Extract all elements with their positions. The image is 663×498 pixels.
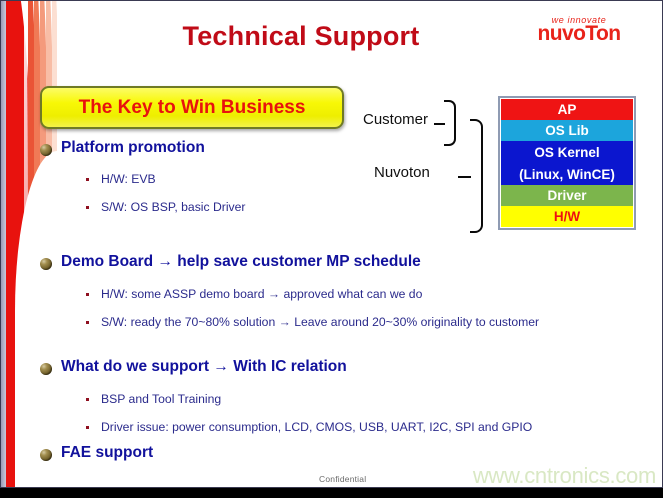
software-stack-diagram: AP OS Lib OS Kernel (Linux, WinCE) Drive… [498, 96, 636, 230]
stripe-orange-2 [34, 1, 42, 488]
sub-bullet-label: S/W: ready the 70~80% solution → Leave a… [101, 314, 539, 331]
site-watermark: www.cntronics.com [473, 463, 656, 488]
bullet-platform-promotion: Platform promotion [40, 139, 205, 157]
stripe-orange-4 [46, 1, 54, 488]
brace-customer-icon [444, 100, 456, 146]
sub-bullet-assp-demo: H/W: some ASSP demo board → approved wha… [86, 286, 422, 303]
slide-canvas: Technical Support we innovate nuvoTon Th… [0, 0, 663, 488]
square-dot-icon [86, 178, 89, 181]
sub-bullet-hw-evb: H/W: EVB [86, 171, 156, 188]
stack-layer-hw: H/W [501, 206, 633, 227]
sub-bullet-label: H/W: some ASSP demo board → approved wha… [101, 286, 422, 303]
sub-bullet-sw-solution: S/W: ready the 70~80% solution → Leave a… [86, 314, 581, 331]
bullet-label: FAE support [61, 444, 153, 462]
arrow-icon: → [279, 315, 291, 329]
bullet-label: Demo Board → help save customer MP sched… [61, 253, 421, 271]
bullet-demo-board: Demo Board → help save customer MP sched… [40, 253, 421, 271]
decorative-left-stripes [1, 1, 57, 488]
arrow-icon: → [268, 287, 280, 301]
key-message-label: The Key to Win Business [79, 97, 306, 119]
stack-layer-ap: AP [501, 99, 633, 120]
logo-wordmark: nuvoTon [520, 23, 638, 45]
sub-bullet-bsp-tool-training: BSP and Tool Training [86, 391, 221, 408]
brace-nuvoton-icon [470, 119, 483, 233]
brace-nub [458, 176, 471, 178]
bullet-fae-support: FAE support [40, 444, 153, 462]
arrow-icon: → [213, 358, 229, 375]
stripe-edge [1, 1, 6, 488]
sub-bullet-driver-issue: Driver issue: power consumption, LCD, CM… [86, 419, 532, 436]
sub-bullet-sw-bsp: S/W: OS BSP, basic Driver [86, 199, 246, 216]
stripe-orange-3 [40, 1, 48, 488]
square-dot-icon [86, 321, 89, 324]
sphere-bullet-icon [40, 363, 52, 375]
sub-bullet-label: S/W: OS BSP, basic Driver [101, 199, 246, 216]
brace-label-customer: Customer [363, 111, 428, 128]
stripe-red [6, 1, 32, 488]
sub-bullet-label: BSP and Tool Training [101, 391, 221, 408]
stack-layer-driver: Driver [501, 185, 633, 206]
stripe-curve-mask [15, 151, 57, 488]
brace-label-nuvoton: Nuvoton [374, 164, 430, 181]
stripe-orange-5 [52, 1, 57, 488]
square-dot-icon [86, 398, 89, 401]
sub-bullet-label: Driver issue: power consumption, LCD, CM… [101, 419, 532, 436]
stripe-highlight [24, 1, 28, 488]
bullet-label: What do we support → With IC relation [61, 358, 347, 376]
sub-bullet-label: H/W: EVB [101, 171, 156, 188]
stripe-orange-1 [28, 1, 37, 488]
bullet-label: Platform promotion [61, 139, 205, 157]
stack-layer-os-kernel-variants: (Linux, WinCE) [501, 163, 633, 185]
confidential-notice: Confidential [319, 474, 366, 484]
bullet-what-do-we-support: What do we support → With IC relation [40, 358, 347, 376]
square-dot-icon [86, 293, 89, 296]
nuvoton-logo: we innovate nuvoTon [520, 15, 638, 45]
square-dot-icon [86, 426, 89, 429]
brace-nub [434, 123, 445, 125]
stack-layer-os-kernel: OS Kernel [501, 141, 633, 163]
arrow-icon: → [157, 253, 173, 270]
square-dot-icon [86, 206, 89, 209]
stack-layer-os-lib: OS Lib [501, 120, 633, 141]
key-message-banner: The Key to Win Business [40, 86, 344, 129]
sphere-bullet-icon [40, 144, 52, 156]
bottom-black-bar [0, 488, 663, 498]
sphere-bullet-icon [40, 258, 52, 270]
sphere-bullet-icon [40, 449, 52, 461]
page-title: Technical Support [91, 21, 511, 52]
